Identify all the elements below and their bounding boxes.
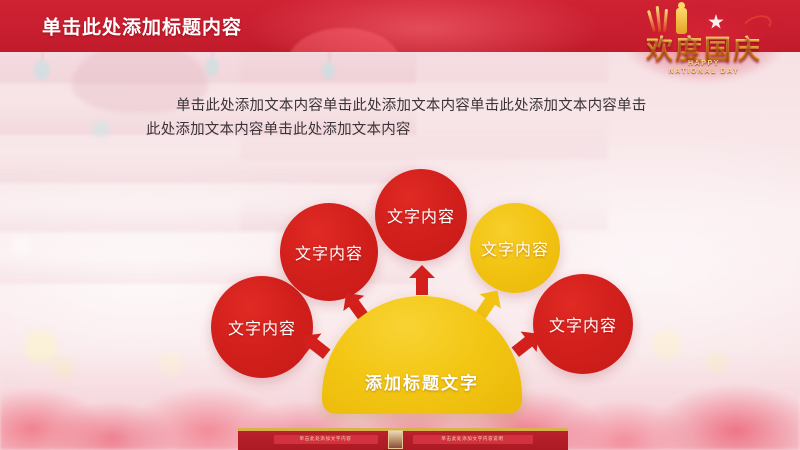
diagram-node-label: 文字内容 [295, 240, 363, 264]
page-title: 单击此处添加标题内容 [42, 13, 242, 40]
diagram-arrow-top[interactable] [409, 265, 435, 295]
diagram-node-label: 文字内容 [549, 312, 617, 336]
diagram-node-far-left[interactable]: 文字内容 [211, 276, 313, 378]
presentation-slide: 单击此处添加标题内容 欢度国庆 HAPPY NATIONAL DAY 单击此处添… [0, 0, 800, 450]
diagram-node-label: 文字内容 [481, 236, 549, 260]
diagram-node-label: 文字内容 [228, 315, 296, 339]
background-lantern-right [322, 62, 335, 79]
background-bokeh-6 [92, 120, 110, 138]
diagram-node-top[interactable]: 文字内容 [375, 169, 467, 261]
diagram-node-left[interactable]: 文字内容 [280, 203, 378, 301]
background-lantern-mid [205, 58, 219, 76]
diagram-base-label: 添加标题文字 [365, 369, 479, 414]
footer-chip-left: 单击此处添加文字内容 [274, 435, 378, 444]
diagram-node-right[interactable]: 文字内容 [470, 203, 560, 293]
national-day-logo: 欢度国庆 HAPPY NATIONAL DAY [614, 2, 794, 86]
background-lantern-left [34, 60, 50, 80]
footer-portrait-icon [388, 430, 403, 449]
slide-footer-bar: 单击此处添加文字内容 单击此处添加文字内容说明 [238, 428, 568, 450]
diagram-node-far-right[interactable]: 文字内容 [533, 274, 633, 374]
background-bokeh-7 [12, 236, 32, 256]
diagram-node-label: 文字内容 [387, 203, 455, 227]
body-paragraph[interactable]: 单击此处添加文本内容单击此处添加文本内容单击此处添加文本内容单击此处添加文本内容… [146, 94, 658, 142]
footer-chip-right: 单击此处添加文字内容说明 [413, 435, 533, 444]
logo-sub-text-2: NATIONAL DAY [618, 68, 790, 76]
logo-sub-text-1: HAPPY [618, 60, 790, 68]
